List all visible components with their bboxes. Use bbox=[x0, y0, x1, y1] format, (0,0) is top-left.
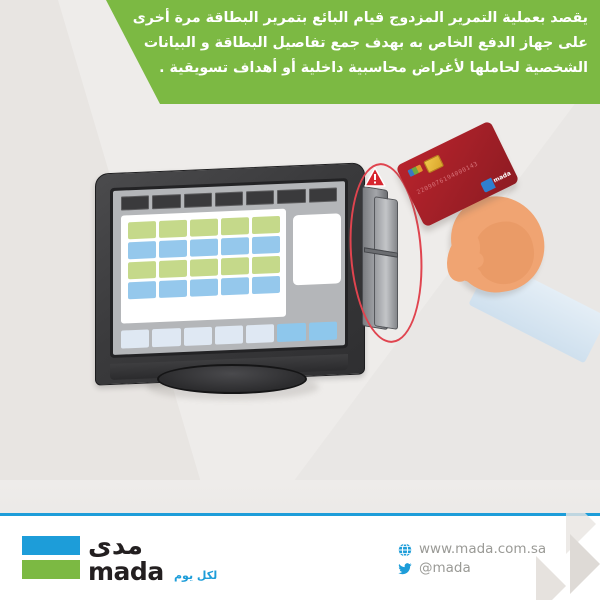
pos-screen-key-r2-c1[interactable] bbox=[128, 241, 156, 259]
contact-row-website[interactable]: www.mada.com.sa bbox=[398, 539, 578, 558]
pos-screen-bottom-button-row[interactable] bbox=[121, 322, 337, 349]
pos-screen-key-r1-c5[interactable] bbox=[252, 216, 280, 234]
pos-screen-key-r3-c2[interactable] bbox=[159, 260, 187, 278]
pos-screen-tab-3[interactable] bbox=[184, 193, 212, 208]
poster-canvas: يقصد بعملية التمرير المزدوج قيام البائع … bbox=[0, 0, 600, 600]
globe-icon bbox=[398, 542, 412, 556]
logo-bar-blue bbox=[22, 536, 80, 555]
pos-screen-key-r4-c4[interactable] bbox=[221, 277, 249, 295]
twitter-icon bbox=[398, 561, 412, 575]
pos-screen-key-r2-c3[interactable] bbox=[190, 239, 218, 257]
pos-screen-key-r3-c5[interactable] bbox=[252, 256, 280, 274]
headline-banner-text: يقصد بعملية التمرير المزدوج قيام البائع … bbox=[150, 6, 590, 98]
pos-screen-bottom-button-7[interactable] bbox=[309, 322, 337, 341]
pos-screen bbox=[113, 181, 345, 355]
headline-line-2: على جهاز الدفع الخاص به بهدف جمع تفاصيل … bbox=[150, 31, 588, 56]
pos-screen-key-r4-c2[interactable] bbox=[159, 280, 187, 298]
headline-line-1: يقصد بعملية التمرير المزدوج قيام البائع … bbox=[150, 6, 588, 31]
pos-screen-tab-6[interactable] bbox=[277, 189, 305, 204]
pos-screen-tab-5[interactable] bbox=[246, 190, 274, 205]
pos-screen-tab-4[interactable] bbox=[215, 191, 243, 206]
pos-screen-bottom-button-1[interactable] bbox=[121, 329, 149, 348]
headline-line-3: الشخصية لحاملها لأغراض محاسبية داخلية أو… bbox=[150, 56, 588, 81]
logo-bar-green bbox=[22, 560, 80, 579]
twitter-handle: @mada bbox=[419, 560, 471, 576]
mada-logo[interactable]: مدى mada لكل يوم bbox=[22, 535, 232, 587]
pos-screen-bottom-button-3[interactable] bbox=[184, 327, 212, 346]
pos-screen-key-r3-c4[interactable] bbox=[221, 257, 249, 275]
pos-terminal-stand bbox=[157, 364, 307, 394]
pos-screen-bottom-button-5[interactable] bbox=[246, 324, 274, 343]
pos-screen-key-grid[interactable] bbox=[128, 216, 280, 299]
pos-screen-key-r1-c2[interactable] bbox=[159, 220, 187, 238]
pos-screen-tab-bar[interactable] bbox=[121, 188, 337, 211]
pos-screen-key-r1-c3[interactable] bbox=[190, 219, 218, 237]
pos-screen-tab-7[interactable] bbox=[309, 188, 337, 203]
pos-screen-key-r1-c1[interactable] bbox=[128, 221, 156, 239]
pos-screen-bottom-button-2[interactable] bbox=[152, 328, 180, 347]
pos-screen-key-r4-c3[interactable] bbox=[190, 279, 218, 297]
logo-tagline: لكل يوم bbox=[174, 569, 217, 582]
pos-screen-key-r3-c1[interactable] bbox=[128, 261, 156, 279]
pos-screen-receipt-panel bbox=[293, 213, 341, 285]
pos-screen-bottom-button-6[interactable] bbox=[277, 323, 305, 342]
logo-latin-text: mada bbox=[88, 557, 164, 586]
pos-screen-key-r2-c2[interactable] bbox=[159, 240, 187, 258]
pos-screen-tab-2[interactable] bbox=[152, 194, 180, 209]
pos-screen-key-r3-c3[interactable] bbox=[190, 259, 218, 277]
pos-screen-key-r4-c5[interactable] bbox=[252, 276, 280, 294]
footer: مدى mada لكل يوم www.mada.com.sa bbox=[0, 513, 600, 600]
card-color-stripe bbox=[407, 164, 423, 176]
pos-screen-bezel bbox=[110, 178, 348, 358]
contact-row-twitter[interactable]: @mada bbox=[398, 558, 578, 577]
pos-screen-bottom-button-4[interactable] bbox=[215, 325, 243, 344]
warning-triangle-icon bbox=[364, 167, 386, 187]
card-chip-icon bbox=[423, 154, 444, 173]
pos-screen-key-r1-c4[interactable] bbox=[221, 217, 249, 235]
pos-screen-keypad-panel bbox=[121, 209, 286, 324]
pos-terminal-casing bbox=[95, 162, 365, 385]
website-url: www.mada.com.sa bbox=[419, 541, 546, 557]
pos-terminal bbox=[95, 168, 380, 398]
card-brand-label: mada bbox=[492, 170, 512, 184]
contact-info: www.mada.com.sa @mada bbox=[398, 539, 578, 577]
pos-screen-tab-1[interactable] bbox=[121, 195, 149, 210]
pos-screen-key-r2-c5[interactable] bbox=[252, 236, 280, 254]
pos-screen-key-r4-c1[interactable] bbox=[128, 281, 156, 299]
pos-screen-key-r2-c4[interactable] bbox=[221, 237, 249, 255]
